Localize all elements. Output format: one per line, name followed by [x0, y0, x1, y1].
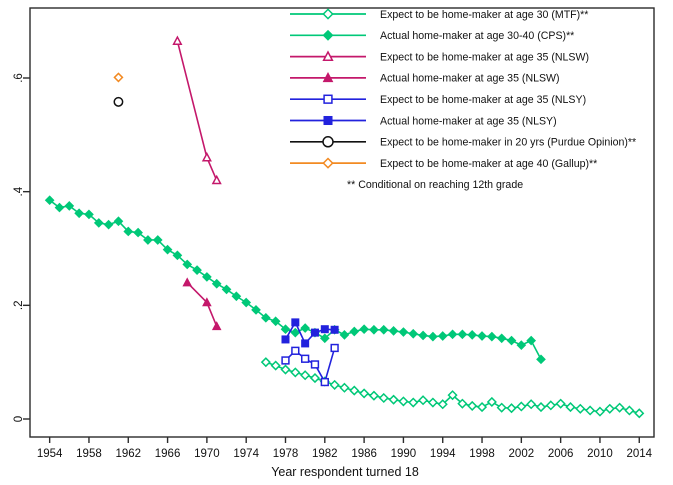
data-point-square [324, 117, 332, 125]
legend-label-nlsw_actual: Actual home-maker at age 35 (NLSW) [380, 73, 560, 85]
x-tick-label: 1998 [469, 448, 495, 460]
data-point-square [331, 345, 338, 352]
x-tick-label: 1982 [312, 448, 338, 460]
series-purdue_expect [114, 98, 122, 106]
data-point-square [312, 329, 319, 336]
x-tick-label: 1970 [194, 448, 220, 460]
data-point-square [321, 379, 328, 386]
legend-label-nlsy_expect: Expect to be home-maker at age 35 (NLSY) [380, 94, 586, 106]
x-tick-label: 2014 [626, 448, 652, 460]
y-tick-label: 0 [13, 416, 25, 422]
y-tick-label: .2 [13, 301, 25, 311]
x-tick-label: 1990 [391, 448, 417, 460]
x-tick-label: 1954 [37, 448, 63, 460]
data-point-circle [114, 98, 122, 106]
homemaker-expectations-chart: 1954195819621966197019741978198219861990… [0, 0, 673, 485]
chart-background [0, 0, 673, 485]
data-point-square [292, 319, 299, 326]
data-point-square [331, 326, 338, 333]
legend-footnote: ** Conditional on reaching 12th grade [347, 179, 523, 191]
legend-label-mtf_expect: Expect to be home-maker at age 30 (MTF)*… [380, 9, 588, 21]
x-tick-label: 1962 [115, 448, 141, 460]
y-tick-label: .6 [13, 73, 25, 83]
legend-label-purdue_expect: Expect to be home-maker in 20 yrs (Purdu… [380, 137, 636, 149]
x-tick-label: 2006 [548, 448, 574, 460]
data-point-square [292, 347, 299, 354]
x-tick-label: 1986 [351, 448, 377, 460]
data-point-square [302, 355, 309, 362]
data-point-square [321, 326, 328, 333]
x-axis-title: Year respondent turned 18 [271, 465, 419, 479]
x-tick-label: 1958 [76, 448, 102, 460]
x-tick-label: 2002 [509, 448, 535, 460]
x-tick-label: 2010 [587, 448, 613, 460]
data-point-square [324, 95, 332, 103]
x-tick-label: 1966 [155, 448, 181, 460]
data-point-circle [323, 137, 333, 147]
data-point-square [302, 340, 309, 347]
x-tick-label: 1978 [273, 448, 299, 460]
data-point-square [282, 357, 289, 364]
data-point-square [312, 361, 319, 368]
data-point-square [282, 336, 289, 343]
x-tick-label: 1994 [430, 448, 456, 460]
legend-label-gallup_expect: Expect to be home-maker at age 40 (Gallu… [380, 158, 597, 170]
y-tick-label: .4 [13, 186, 25, 196]
legend-label-nlsy_actual: Actual home-maker at age 35 (NLSY) [380, 115, 557, 127]
x-tick-label: 1974 [233, 448, 259, 460]
legend-label-cps_actual: Actual home-maker at age 30-40 (CPS)** [380, 30, 574, 42]
chart-page: 1954195819621966197019741978198219861990… [0, 0, 673, 485]
legend-label-nlsw_expect: Expect to be home-maker at age 35 (NLSW) [380, 51, 589, 63]
